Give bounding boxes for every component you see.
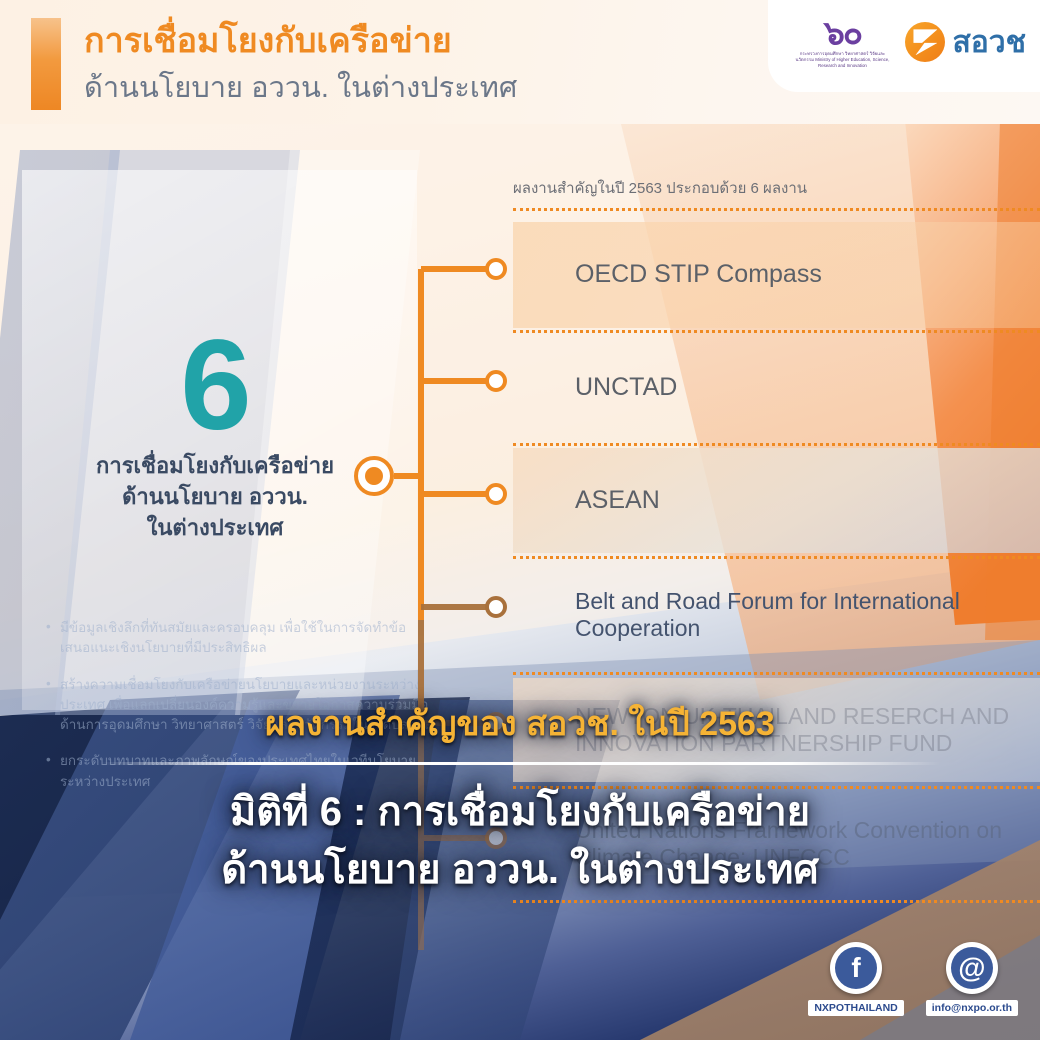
list-item: สร้างความเชื่อมโยงกับเครือข่ายนโยบายและห… xyxy=(46,675,436,736)
facebook-icon[interactable]: f xyxy=(830,942,882,994)
tree-node-6 xyxy=(485,827,507,849)
list-item-label-line: INNOVATION PARTNERSHIP FUND xyxy=(575,730,1009,757)
list-item-label-line: NEWTON UK-THAILAND RESERCH AND xyxy=(575,703,1009,730)
social-links: f NXPOTHAILAND @ info@nxpo.or.th xyxy=(808,942,1018,1016)
tree-node-4 xyxy=(485,596,507,618)
email-link[interactable]: @ info@nxpo.or.th xyxy=(926,942,1018,1016)
logo-group: ๖๐ กระทรวงการอุดมศึกษา วิทยาศาสตร์ วิจัย… xyxy=(795,16,1026,69)
list-item[interactable]: NEWTON UK-THAILAND RESERCH AND INNOVATIO… xyxy=(513,678,1040,782)
list-item-label: OECD STIP Compass xyxy=(513,260,822,290)
list-item-label-line: Climate Change: UNFCCC xyxy=(575,844,1002,871)
page-subtitle: ด้านนโยบาย อววน. ในต่างประเทศ xyxy=(84,72,517,105)
facebook-link[interactable]: f NXPOTHAILAND xyxy=(808,942,903,1016)
list-divider xyxy=(513,786,1040,789)
nxpo-logo-icon xyxy=(905,22,945,62)
header-bar: การเชื่อมโยงกับเครือข่าย ด้านนโยบาย อววน… xyxy=(0,0,1040,124)
list-item[interactable]: United Nations Framework Convention on C… xyxy=(513,792,1040,896)
header-accent-bar xyxy=(31,18,61,110)
ministry-logo: ๖๐ กระทรวงการอุดมศึกษา วิทยาศาสตร์ วิจัย… xyxy=(795,16,889,69)
list-divider xyxy=(513,672,1040,675)
ministry-logo-caption: กระทรวงการอุดมศึกษา วิทยาศาสตร์ วิจัยและ… xyxy=(795,51,889,69)
list-item-label: NEWTON UK-THAILAND RESERCH AND INNOVATIO… xyxy=(513,703,1009,757)
email-glyph: @ xyxy=(951,947,993,989)
nxpo-logo-text: สอวช xyxy=(952,19,1026,66)
tree-hub-node xyxy=(354,456,394,496)
email-label: info@nxpo.or.th xyxy=(926,1000,1018,1016)
tree-node-3 xyxy=(485,483,507,505)
tree-node-5 xyxy=(485,712,507,734)
nxpo-logo: สอวช xyxy=(905,19,1026,66)
objective-bullet-list: มีข้อมูลเชิงลึกที่ทันสมัยและครอบคลุม เพื… xyxy=(46,618,436,808)
list-item[interactable]: ASEAN xyxy=(513,448,1040,553)
list-item-label-line: Belt and Road Forum for International xyxy=(575,588,960,615)
tree-node-1 xyxy=(485,258,507,280)
dimension-number: 6 xyxy=(0,322,430,450)
tree-node-2 xyxy=(485,370,507,392)
list-item[interactable]: UNCTAD xyxy=(513,336,1040,440)
list-item: ยกระดับบทบาทและภาพลักษณ์ของประเทศไทยในเว… xyxy=(46,751,436,792)
email-icon[interactable]: @ xyxy=(946,942,998,994)
list-item-label-line: United Nations Framework Convention on xyxy=(575,817,1002,844)
list-divider xyxy=(513,330,1040,333)
infographic-canvas: การเชื่อมโยงกับเครือข่าย ด้านนโยบาย อววน… xyxy=(0,0,1040,1040)
list-divider xyxy=(513,443,1040,446)
list-item-label: ASEAN xyxy=(513,486,660,516)
dimension-caption-line-3: ในต่างประเทศ xyxy=(0,512,430,543)
list-item-label: United Nations Framework Convention on C… xyxy=(513,817,1002,871)
facebook-label: NXPOTHAILAND xyxy=(808,1000,903,1016)
list-item-label-line: Cooperation xyxy=(575,615,960,642)
list-divider xyxy=(513,208,1040,211)
list-item-label: Belt and Road Forum for International Co… xyxy=(513,588,960,642)
page-title: การเชื่อมโยงกับเครือข่าย xyxy=(84,22,452,61)
list-divider xyxy=(513,900,1040,903)
facebook-glyph: f xyxy=(835,947,877,989)
list-item-label: UNCTAD xyxy=(513,373,677,403)
list-item[interactable]: Belt and Road Forum for International Co… xyxy=(513,562,1040,668)
list-item: มีข้อมูลเชิงลึกที่ทันสมัยและครอบคลุม เพื… xyxy=(46,618,436,659)
list-divider xyxy=(513,556,1040,559)
ministry-logo-mark: ๖๐ xyxy=(824,16,861,49)
list-item[interactable]: OECD STIP Compass xyxy=(513,222,1040,328)
list-title: ผลงานสำคัญในปี 2563 ประกอบด้วย 6 ผลงาน xyxy=(513,176,807,200)
